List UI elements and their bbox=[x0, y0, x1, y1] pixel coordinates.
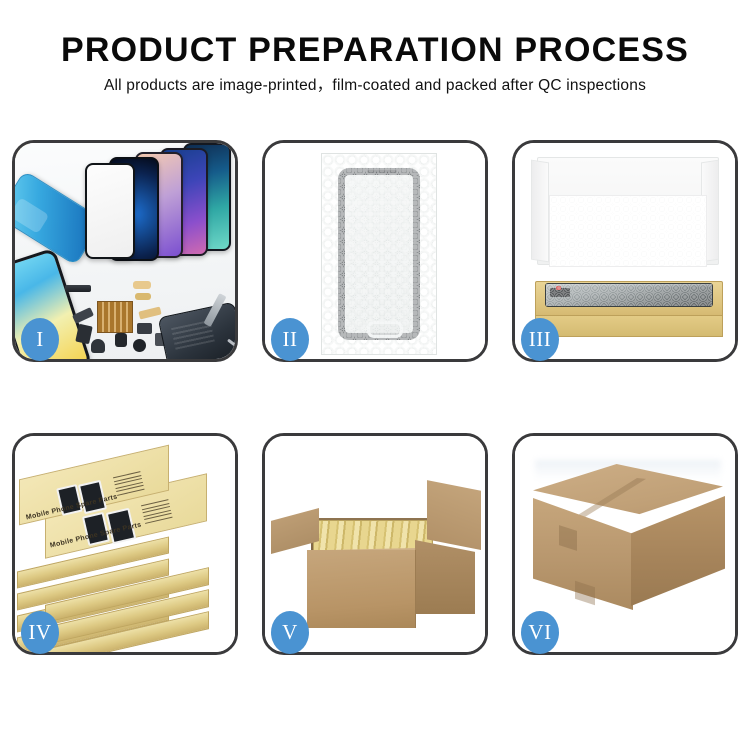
step-badge-6: VI bbox=[521, 611, 559, 654]
page-header: PRODUCT PREPARATION PROCESS All products… bbox=[0, 0, 750, 97]
packed-screen-icon bbox=[545, 283, 713, 307]
item-sticker-icon bbox=[550, 288, 570, 297]
flex-cable-2-icon bbox=[135, 293, 151, 300]
step-badge-2: II bbox=[271, 318, 309, 361]
screw-tray-icon bbox=[97, 301, 133, 333]
process-step-grid: I II III bbox=[12, 140, 738, 655]
process-step-3-panel: III bbox=[512, 140, 738, 362]
bubble-wrap-sheet-icon bbox=[321, 153, 437, 355]
item-red-mark-icon bbox=[556, 286, 561, 290]
small-part-8-icon bbox=[133, 339, 146, 352]
step-badge-4: IV bbox=[21, 611, 59, 654]
speaker-part-icon bbox=[65, 285, 91, 292]
process-step-2-panel: II bbox=[262, 140, 488, 362]
step-badge-1: I bbox=[21, 318, 59, 361]
page-subtitle: All products are image-printed，film-coat… bbox=[0, 75, 750, 97]
step-badge-5: V bbox=[271, 611, 309, 654]
process-step-6-panel: VI bbox=[512, 433, 738, 655]
small-part-7-icon bbox=[91, 339, 105, 353]
yellow-box-front-icon bbox=[535, 315, 723, 337]
phone-screen-a-icon bbox=[85, 163, 135, 259]
page-title: PRODUCT PREPARATION PROCESS bbox=[0, 30, 750, 70]
phone-glass-panel-icon bbox=[338, 168, 420, 340]
carton-front-panel-icon bbox=[307, 550, 416, 628]
small-part-4-icon bbox=[137, 323, 152, 334]
step-badge-3: III bbox=[521, 318, 559, 361]
carton-side-panel-icon bbox=[415, 540, 475, 614]
process-step-5-panel: V bbox=[262, 433, 488, 655]
process-step-4-panel: Mobile Phone Spare Parts Mobile Phone Sp… bbox=[12, 433, 238, 655]
flex-cable-1-icon bbox=[133, 281, 151, 289]
box-lid-flap-left-icon bbox=[531, 160, 549, 263]
small-part-5-icon bbox=[115, 333, 127, 347]
foam-insert-icon bbox=[549, 195, 707, 267]
process-step-1-panel: I bbox=[12, 140, 238, 362]
carton-flap-top-icon bbox=[299, 478, 415, 524]
home-button-icon bbox=[367, 321, 403, 338]
